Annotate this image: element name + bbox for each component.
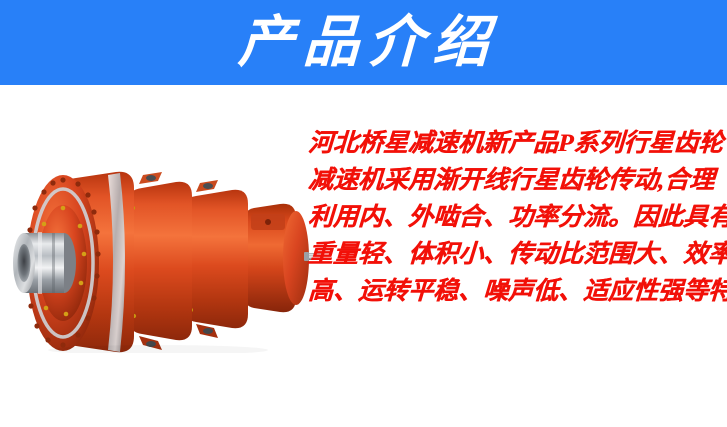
content-area: 河北桥星减速机新产品P系列行星齿轮 减速机采用渐开线行星齿轮传动,合理 利用内、…: [0, 85, 727, 427]
description-line-5: 高、运转平稳、噪声低、适应性强等特点。: [307, 273, 711, 310]
description-line-2: 减速机采用渐开线行星齿轮传动,合理: [307, 162, 711, 199]
description-line-1: 河北桥星减速机新产品P系列行星齿轮: [307, 125, 711, 162]
header-banner: 产品介绍: [0, 0, 727, 85]
description-line-4: 重量轻、体积小、传动比范围大、效率: [307, 236, 711, 273]
product-photo: [8, 168, 328, 353]
page-title: 产品介绍: [0, 0, 727, 85]
product-introduction-page: 产品介绍: [0, 0, 727, 427]
gearbox-middle-housing-2: [184, 180, 248, 338]
hollow-output-shaft: [13, 232, 76, 294]
planetary-gearbox-illustration: [8, 168, 328, 353]
product-description: 河北桥星减速机新产品P系列行星齿轮 减速机采用渐开线行星齿轮传动,合理 利用内、…: [308, 125, 710, 310]
description-line-3: 利用内、外啮合、功率分流。因此具有: [307, 199, 711, 236]
gearbox-middle-housing-1: [128, 172, 192, 350]
